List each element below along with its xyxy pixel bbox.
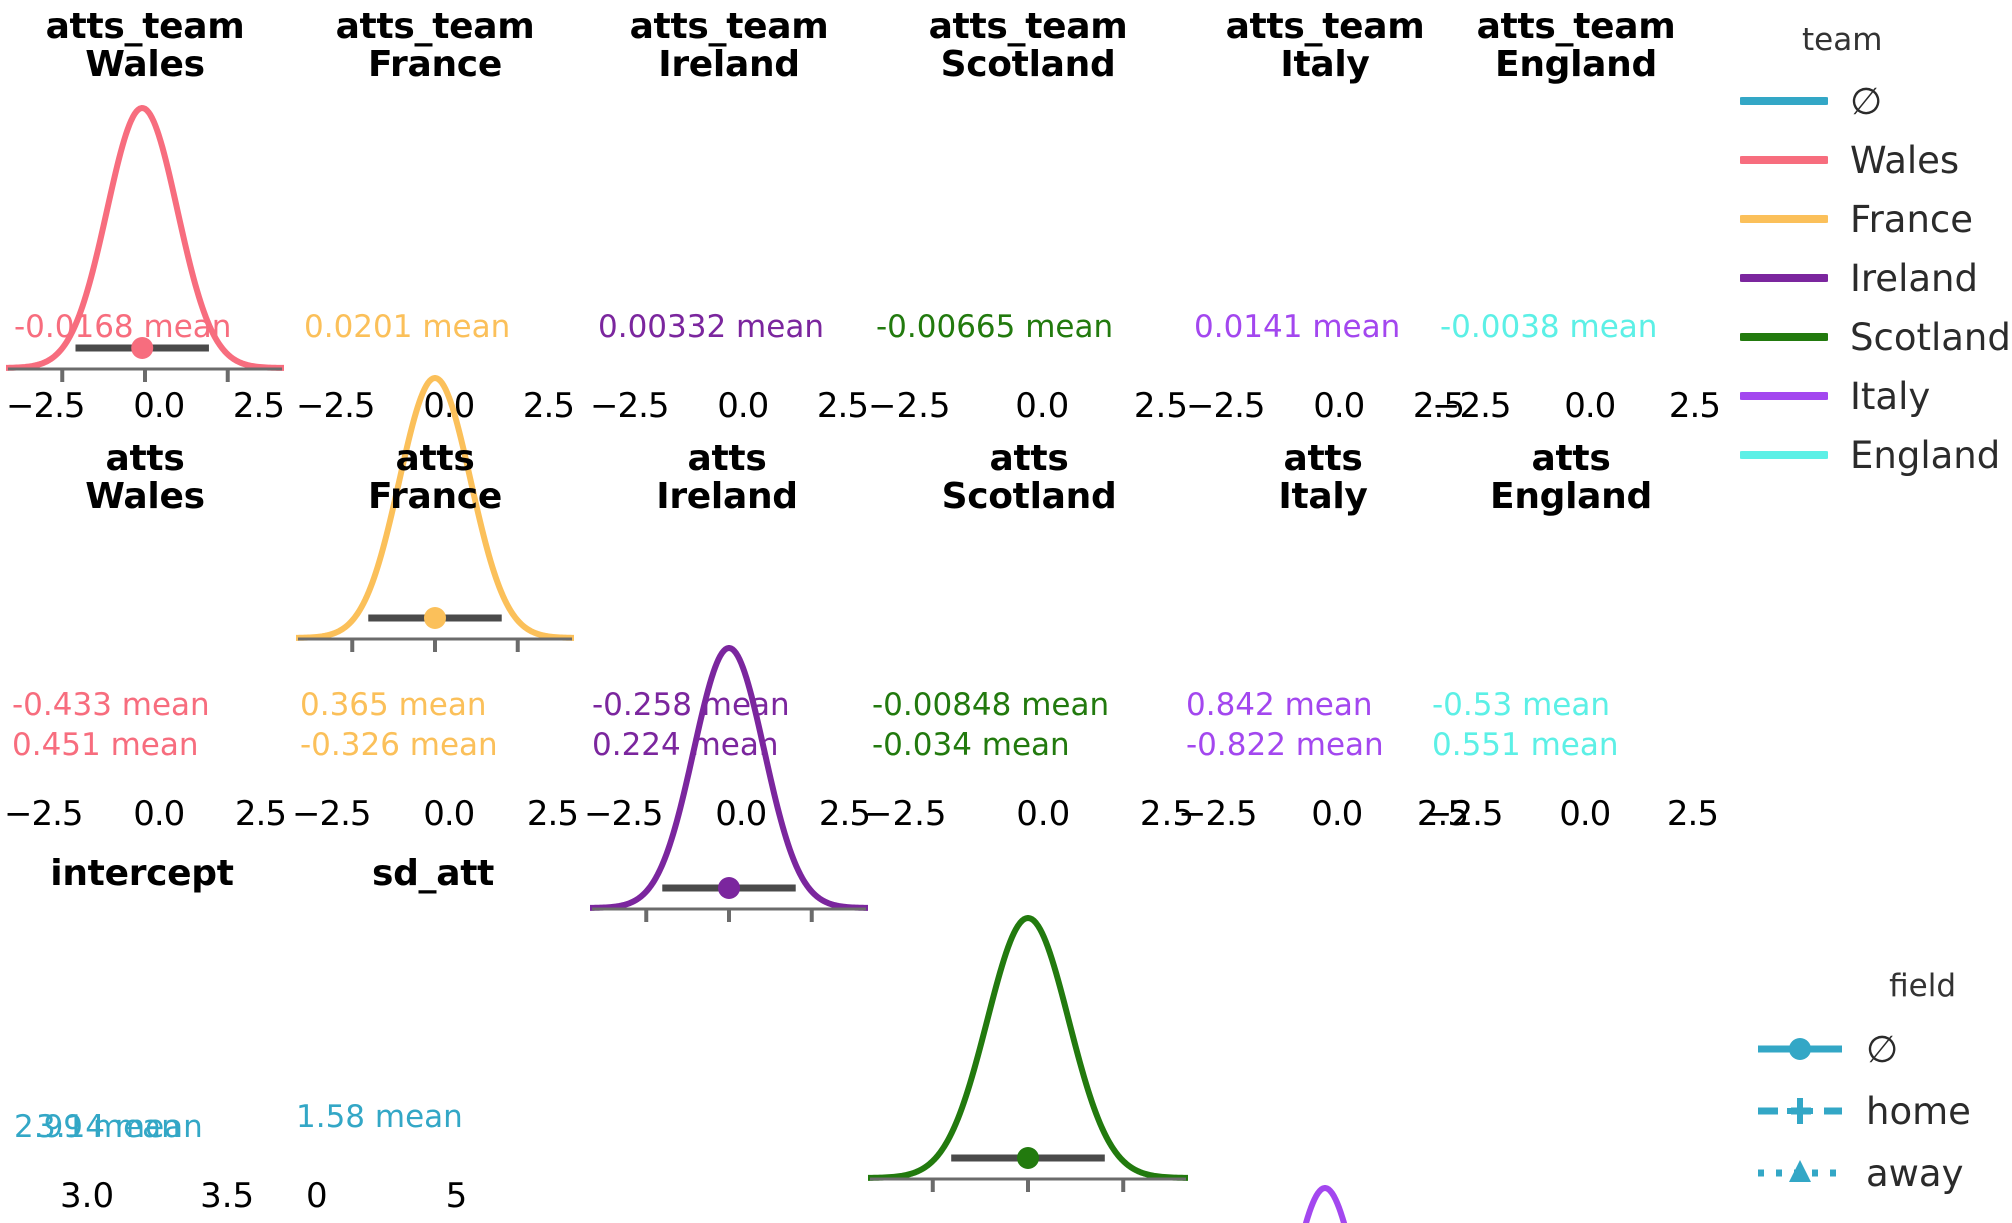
legend-title-field: field — [1756, 968, 2012, 1004]
tick-label: 2.5 — [1134, 386, 1188, 426]
legend-label: France — [1850, 201, 1973, 238]
panel-atts-wales: atts Wales — [4, 440, 286, 516]
panel-title: atts_team Italy — [1186, 8, 1464, 84]
density-curve-∅ — [1186, 1188, 1464, 1223]
density-curve-∅ — [868, 918, 1188, 1178]
mean-label-home: 0.451 mean — [12, 730, 199, 761]
legend-item-ireland[interactable]: Ireland — [1740, 249, 2010, 308]
panel-atts-ireland: atts Ireland — [584, 440, 870, 516]
panel-atts-england: atts England — [1424, 440, 1718, 516]
panel-title: sd_att — [288, 855, 578, 893]
tick-label: 0.0 — [423, 794, 474, 834]
legend-label: Ireland — [1850, 260, 1978, 297]
tick-label: −2.5 — [868, 386, 951, 426]
tick-label: 2.5 — [1667, 794, 1718, 834]
legend-swatch-away-icon — [1756, 1150, 1844, 1197]
panel-title: atts_team Scotland — [868, 8, 1188, 84]
tick-label: −2.5 — [1432, 386, 1511, 426]
mean-label-away: -0.433 mean — [12, 690, 210, 721]
mean-marker-circle — [1017, 1147, 1039, 1169]
panel-title: atts_team France — [296, 8, 574, 84]
tick-label: 0.0 — [717, 386, 768, 426]
legend-label: away — [1866, 1155, 1964, 1192]
tick-label: 0.0 — [715, 794, 766, 834]
legend-label: ∅ — [1866, 1031, 1898, 1068]
panel-title: atts Ireland — [584, 440, 870, 516]
legend-label: Wales — [1850, 142, 1959, 179]
legend-swatch-icon — [1740, 196, 1828, 243]
axis-tick-labels: −2.50.02.5 — [1186, 386, 1464, 426]
axis-tick-labels: −2.50.02.5 — [296, 386, 574, 426]
tick-label: 0.0 — [1564, 386, 1615, 426]
plot-area-atts_team-ireland — [590, 640, 868, 910]
mean-label-away: 0.842 mean — [1186, 690, 1373, 721]
panel-intercept: intercept — [0, 855, 284, 893]
panel-atts-scotland: atts Scotland — [864, 440, 1194, 516]
axis-tick-labels: −2.50.02.5 — [4, 794, 286, 834]
mean-label-home: -0.822 mean — [1186, 730, 1384, 761]
legend-swatch-icon — [1740, 255, 1828, 302]
axis-tick-labels: −2.50.02.5 — [6, 386, 284, 426]
legend-team: team∅WalesFranceIrelandScotlandItalyEngl… — [1740, 22, 2010, 485]
tick-label: 0.0 — [133, 386, 184, 426]
mean-label-∅: -0.00665 mean — [876, 312, 1113, 343]
axis-tick-labels: 3.03.5 — [0, 1176, 284, 1216]
panel-atts_team-france: atts_team France — [296, 8, 574, 84]
panel-sd_att: sd_att — [288, 855, 578, 893]
legend-item-france[interactable]: France — [1740, 190, 2010, 249]
legend-label: England — [1850, 437, 2000, 474]
mean-label-∅: 0.0141 mean — [1194, 312, 1400, 343]
legend-swatch-icon — [1740, 432, 1828, 479]
figure-root: atts_team Wales-0.0168 mean−2.50.02.5att… — [0, 0, 2012, 1223]
axis-tick-labels: −2.50.02.5 — [590, 386, 868, 426]
legend-field: field∅homeaway — [1756, 968, 2012, 1204]
mean-label-home: 0.224 mean — [592, 730, 779, 761]
mean-label-∅: 0.00332 mean — [598, 312, 824, 343]
mean-marker-circle — [718, 877, 740, 899]
legend-item-default[interactable]: ∅ — [1756, 1018, 2012, 1080]
mean-marker-circle — [424, 607, 446, 629]
tick-label: −2.5 — [296, 386, 375, 426]
panel-atts_team-italy: atts_team Italy — [1186, 8, 1464, 84]
tick-label: 0.0 — [1015, 386, 1069, 426]
tick-label: −2.5 — [590, 386, 669, 426]
mean-label-away: -0.53 mean — [1432, 690, 1610, 721]
mean-label-home: 3.14 mean — [36, 1112, 203, 1143]
legend-swatch-icon — [1740, 78, 1828, 125]
axis-tick-labels: 05 — [288, 1176, 578, 1216]
legend-item-england[interactable]: England — [1740, 426, 2010, 485]
tick-label: 2.5 — [819, 794, 870, 834]
panel-title: atts Wales — [4, 440, 286, 516]
mean-label-home: 0.551 mean — [1432, 730, 1619, 761]
tick-label: 0.0 — [423, 386, 474, 426]
tick-label: 2.5 — [527, 794, 578, 834]
tick-label: 2.5 — [523, 386, 574, 426]
tick-label: −2.5 — [6, 386, 85, 426]
legend-item-wales[interactable]: Wales — [1740, 131, 2010, 190]
tick-label: −2.5 — [1186, 386, 1265, 426]
tick-label: 5 — [446, 1176, 468, 1216]
tick-label: 3.5 — [200, 1176, 254, 1216]
legend-item-∅[interactable]: ∅ — [1740, 72, 2010, 131]
tick-label: 0.0 — [1559, 794, 1610, 834]
tick-label: 2.5 — [235, 794, 286, 834]
axis-tick-labels: −2.50.02.5 — [864, 794, 1194, 834]
tick-label: −2.5 — [292, 794, 371, 834]
legend-label: Italy — [1850, 378, 1930, 415]
mean-label-home: -0.326 mean — [300, 730, 498, 761]
panel-title: atts Scotland — [864, 440, 1194, 516]
axis-tick-labels: −2.50.02.5 — [868, 386, 1188, 426]
tick-label: 0.0 — [1313, 386, 1364, 426]
legend-label: Scotland — [1850, 319, 2011, 356]
mean-label-∅: 0.0201 mean — [304, 312, 510, 343]
legend-item-home[interactable]: home — [1756, 1080, 2012, 1142]
tick-label: −2.5 — [864, 794, 947, 834]
tick-label: −2.5 — [1424, 794, 1503, 834]
axis-tick-labels: −2.50.02.5 — [1424, 794, 1718, 834]
legend-title-team: team — [1740, 22, 2010, 58]
mean-label-∅: 1.58 mean — [296, 1102, 463, 1133]
tick-label: 0.0 — [133, 794, 184, 834]
mean-label-∅: -0.0168 mean — [14, 312, 231, 343]
panel-title: atts_team England — [1432, 8, 1720, 84]
legend-label: home — [1866, 1093, 1971, 1130]
mean-label-∅: -0.0038 mean — [1440, 312, 1657, 343]
legend-swatch-icon — [1740, 314, 1828, 361]
legend-item-scotland[interactable]: Scotland — [1740, 308, 2010, 367]
axis-tick-labels: −2.50.02.5 — [292, 794, 578, 834]
tick-label: 3.0 — [60, 1176, 114, 1216]
panel-atts-france: atts France — [292, 440, 578, 516]
tick-label: −2.5 — [584, 794, 663, 834]
tick-label: −2.5 — [4, 794, 83, 834]
panel-title: atts_team Wales — [6, 8, 284, 84]
panel-atts_team-wales: atts_team Wales — [6, 8, 284, 84]
axis-tick-labels: −2.50.02.5 — [1432, 386, 1720, 426]
legend-swatch-home-icon — [1756, 1088, 1844, 1135]
tick-label: 2.5 — [817, 386, 868, 426]
legend-swatch-icon — [1740, 137, 1828, 184]
legend-label: ∅ — [1850, 83, 1882, 120]
tick-label: 2.5 — [233, 386, 284, 426]
mean-label-away: 0.365 mean — [300, 690, 487, 721]
panel-title: intercept — [0, 855, 284, 893]
tick-label: 0 — [306, 1176, 328, 1216]
plot-area-atts_team-italy — [1186, 1180, 1464, 1223]
mean-label-away: -0.00848 mean — [872, 690, 1109, 721]
legend-swatch-icon — [1740, 373, 1828, 420]
legend-item-away[interactable]: away — [1756, 1142, 2012, 1204]
tick-label: 0.0 — [1016, 794, 1070, 834]
panel-title: atts France — [292, 440, 578, 516]
legend-swatch-default-icon — [1756, 1026, 1844, 1073]
panel-atts_team-ireland: atts_team Ireland — [590, 8, 868, 84]
tick-label: 2.5 — [1669, 386, 1720, 426]
axis-tick-labels: −2.50.02.5 — [584, 794, 870, 834]
mean-label-away: -0.258 mean — [592, 690, 790, 721]
plot-area-atts_team-scotland — [868, 910, 1188, 1180]
mean-label-home: -0.034 mean — [872, 730, 1070, 761]
tick-label: −2.5 — [1178, 794, 1257, 834]
legend-item-italy[interactable]: Italy — [1740, 367, 2010, 426]
panel-atts_team-scotland: atts_team Scotland — [868, 8, 1188, 84]
panel-title: atts_team Ireland — [590, 8, 868, 84]
panel-title: atts England — [1424, 440, 1718, 516]
tick-label: 0.0 — [1311, 794, 1362, 834]
panel-atts_team-england: atts_team England — [1432, 8, 1720, 84]
